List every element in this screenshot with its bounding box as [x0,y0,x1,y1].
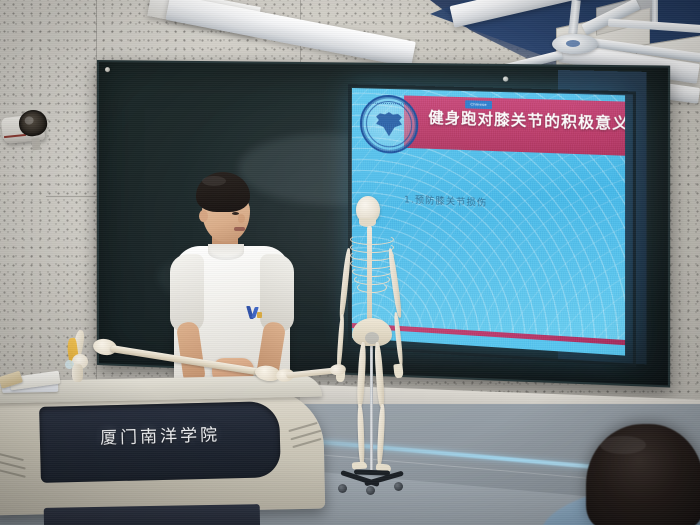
fan-downrod [652,0,658,22]
lectern-institution-name: 厦门南洋学院 [100,420,221,448]
wall-panel-seam [46,196,98,197]
audience-member-head [586,424,700,525]
security-camera [2,108,50,152]
presenter-ear [199,210,208,222]
presenter-collar [208,244,244,260]
knee-tibia [72,364,83,382]
board-screw [503,76,508,81]
board-screw [105,67,110,72]
skeleton-tibia-left [357,404,365,466]
skeleton-pelvis [352,318,392,346]
skeleton-stand-pole [370,346,373,474]
presenter-mouth [234,227,245,231]
presenter-sleeve-left [170,254,204,332]
ceiling-fan-secondary [612,0,700,40]
stand-caster [366,486,375,495]
shirt-brand-logo [248,306,262,319]
fan-downrod [568,0,581,34]
anatomical-skeleton-model [334,196,410,486]
presenter-hair [196,172,250,212]
fan-blade [608,19,700,34]
presenter-sleeve-right [260,254,294,332]
bone-end [329,363,346,376]
skeleton-femur-right [374,342,386,408]
fan-blade [591,38,700,62]
skeleton-tibia-right [376,404,385,466]
lectern: 厦门南洋学院 [0,378,322,525]
fan-motor-hub [552,34,598,54]
skeleton-hand-right [393,364,403,379]
skeleton-ribcage [350,234,392,296]
stand-caster [338,484,347,493]
classroom-presentation-scene: Chinese Mask 健身跑对膝关节的积极意义 1.预防膝关节损伤 [0,0,700,525]
presenter-nose [238,214,245,223]
camera-mount [31,138,40,151]
skeleton-stand-base [340,466,404,490]
stand-caster [394,482,403,491]
lectern-base [44,504,261,525]
skeleton-forearm-right [393,312,404,366]
skeleton-femur-left [356,342,366,408]
